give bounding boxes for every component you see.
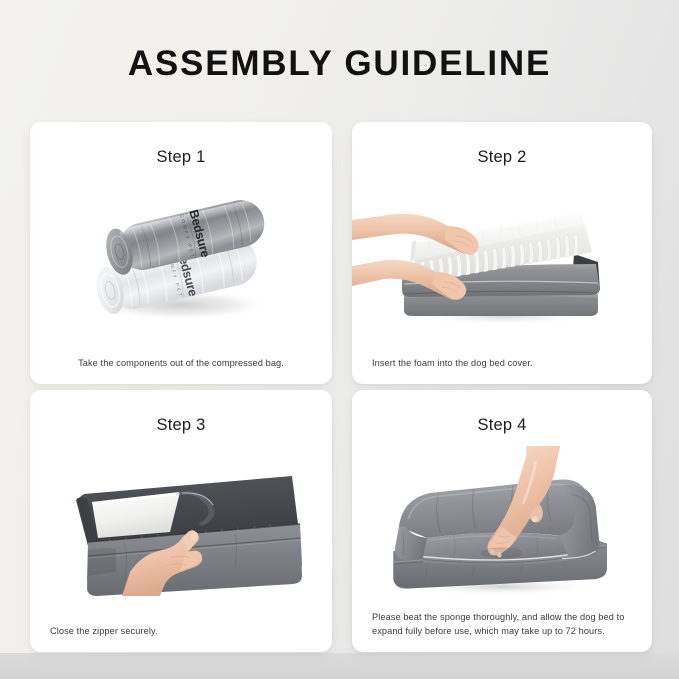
step-caption-1: Take the components out of the compresse… xyxy=(42,356,320,370)
insert-foam-photo xyxy=(352,178,652,328)
page-title: ASSEMBLY GUIDELINE xyxy=(0,44,679,84)
step-caption-3: Close the zipper securely. xyxy=(50,624,314,638)
close-zipper-photo xyxy=(30,446,332,596)
step-title-2: Step 2 xyxy=(352,148,652,167)
floor-strip xyxy=(0,653,679,679)
compressed-bags-photo: Bedsure COMFY PET xyxy=(30,178,332,328)
fluff-bed-photo xyxy=(352,446,652,596)
step-card-1: Step 1 xyxy=(30,122,332,384)
steps-grid: Step 1 xyxy=(30,122,652,652)
step-title-1: Step 1 xyxy=(30,148,332,167)
step-title-3: Step 3 xyxy=(30,416,332,435)
step-caption-4: Please beat the sponge thoroughly, and a… xyxy=(372,610,634,639)
step-caption-2: Insert the foam into the dog bed cover. xyxy=(372,356,634,370)
step-title-4: Step 4 xyxy=(352,416,652,435)
step-card-3: Step 3 xyxy=(30,390,332,652)
step-card-2: Step 2 xyxy=(352,122,652,384)
step-card-4: Step 4 xyxy=(352,390,652,652)
